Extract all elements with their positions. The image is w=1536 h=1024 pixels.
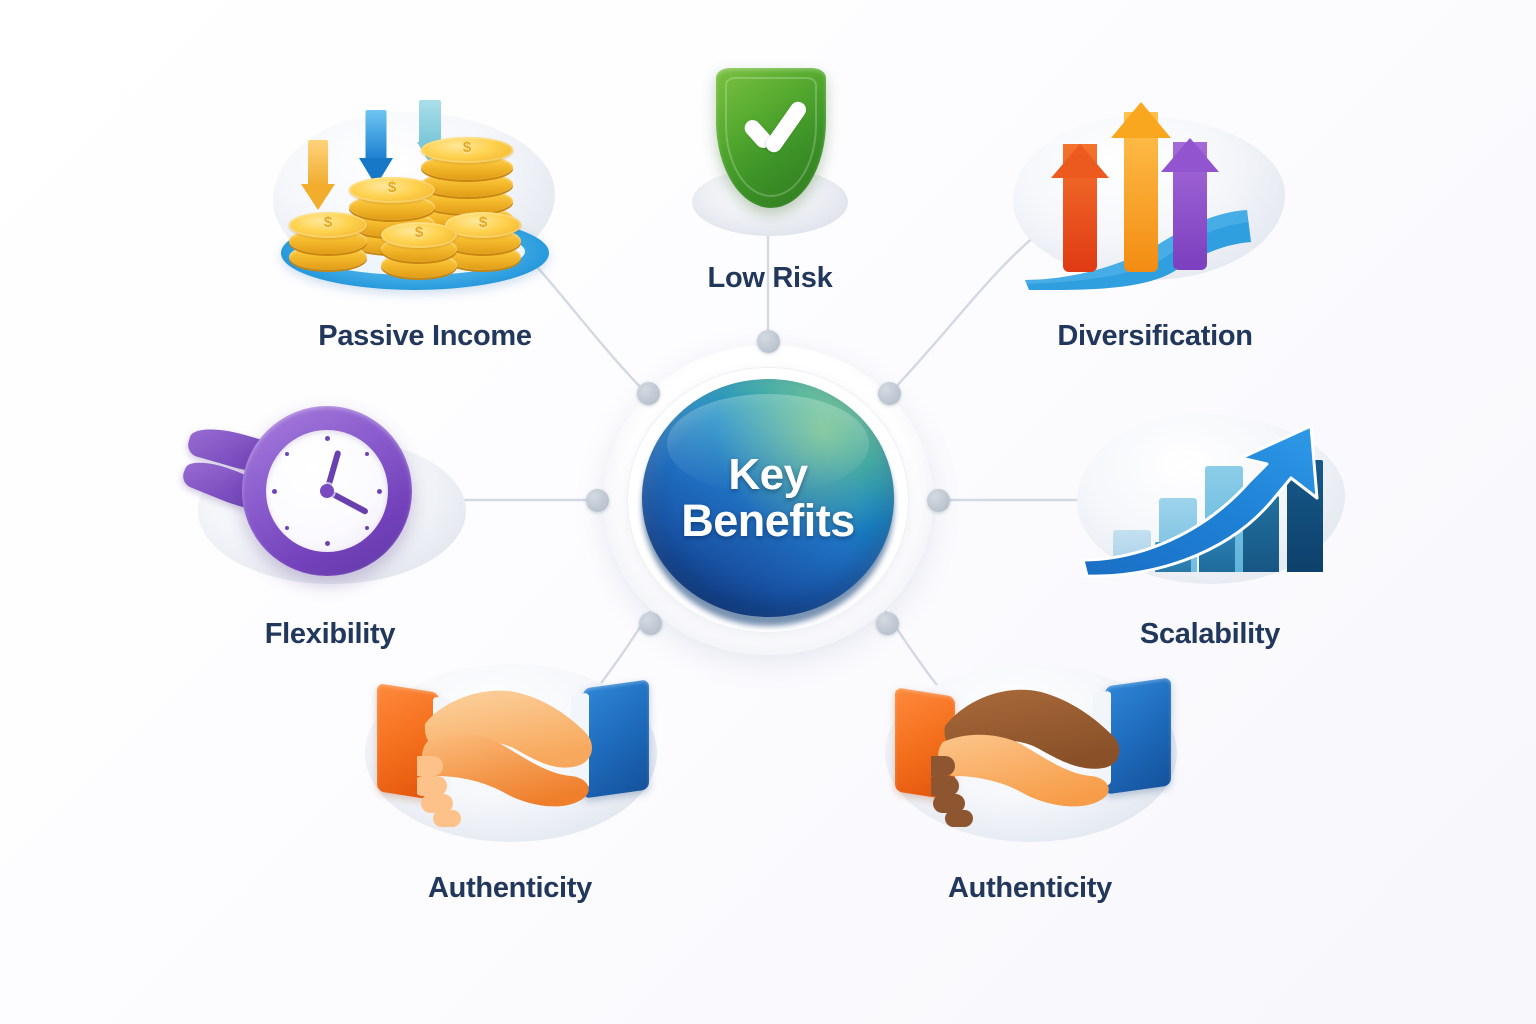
benefit-label: Authenticity: [345, 872, 675, 905]
benefit-label: Passive Income: [245, 320, 605, 353]
benefit-authenticity-1[interactable]: Authenticity: [345, 650, 675, 905]
handshake-icon: [345, 650, 675, 862]
low-risk-icon: [620, 50, 920, 250]
hands-shape: [417, 680, 617, 830]
growth-arrow-icon: [1079, 420, 1339, 580]
arrow-orange-icon: [1111, 104, 1171, 272]
scalability-icon: [1055, 398, 1365, 606]
benefit-flexibility[interactable]: Flexibility: [180, 398, 480, 651]
hub-node-flexibility: [586, 489, 609, 512]
hub-node-passive-income: [637, 382, 660, 405]
benefit-label: Diversification: [985, 320, 1325, 353]
arrow-red-icon: [1051, 146, 1109, 272]
hub-node-scalability: [927, 489, 950, 512]
coin-stack-front: [381, 222, 457, 278]
hub-title: Key Benefits: [681, 453, 855, 544]
benefit-label: Low Risk: [620, 262, 920, 295]
hub-disc: Key Benefits: [642, 379, 894, 617]
clock-face: [266, 430, 388, 552]
infographic-canvas: Key Benefits: [0, 0, 1536, 1024]
check-icon: [744, 112, 798, 140]
hub-node-diversification: [878, 382, 901, 405]
benefit-label: Scalability: [1055, 618, 1365, 651]
handshake-diverse-icon: [865, 650, 1195, 862]
benefit-authenticity-2[interactable]: Authenticity: [865, 650, 1195, 905]
benefit-label: Authenticity: [865, 872, 1195, 905]
hub-node-authenticity-1: [639, 612, 662, 635]
hub-title-line-1: Key: [681, 453, 855, 498]
benefit-diversification[interactable]: Diversification: [985, 88, 1325, 353]
hub-node-low-risk: [757, 330, 780, 353]
benefit-low-risk[interactable]: Low Risk: [620, 50, 920, 295]
clock-center-pin: [320, 484, 334, 498]
benefit-passive-income[interactable]: Passive Income: [245, 88, 605, 353]
passive-income-icon: [245, 88, 605, 306]
coin-stack-left: [289, 196, 367, 270]
hub-title-line-2: Benefits: [681, 498, 855, 544]
clock-icon: [242, 406, 412, 576]
hub-node-authenticity-2: [876, 612, 899, 635]
flexibility-icon: [180, 398, 480, 606]
benefit-label: Flexibility: [180, 618, 480, 651]
diversification-icon: [985, 88, 1325, 306]
hands-shape: [931, 678, 1137, 830]
benefit-scalability[interactable]: Scalability: [1055, 398, 1365, 651]
